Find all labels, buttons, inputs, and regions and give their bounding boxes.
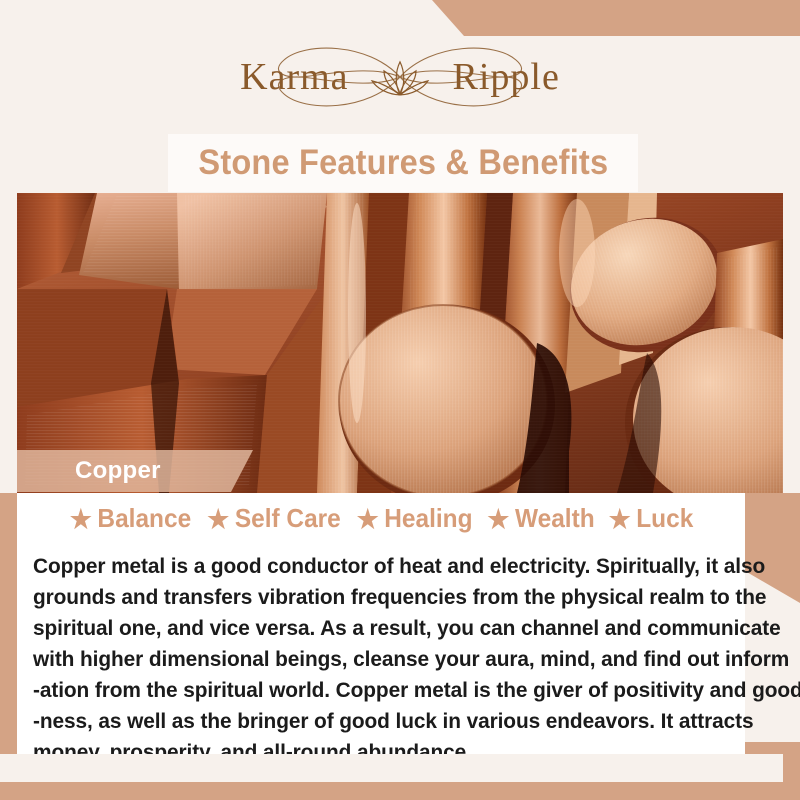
lotus-icon — [367, 56, 433, 102]
feature-label: Balance — [97, 503, 191, 534]
star-icon: ★ — [609, 506, 631, 532]
photo-caption-label: Copper — [75, 459, 161, 483]
bottom-band — [17, 754, 783, 782]
star-icon: ★ — [488, 506, 510, 532]
description-line: grounds and transfers vibration frequenc… — [33, 582, 712, 613]
description-line: spiritual one, and vice versa. As a resu… — [33, 613, 712, 644]
star-icon: ★ — [70, 506, 92, 532]
feature-item-luck: ★ Luck — [605, 503, 697, 534]
description-line: Copper metal is a good conductor of heat… — [33, 551, 712, 582]
feature-list: ★ Balance ★ Self Care ★ Healing ★ Wealth… — [17, 503, 745, 534]
feature-label: Healing — [384, 503, 472, 534]
feature-label: Wealth — [515, 503, 595, 534]
brand-name-right: Ripple — [453, 58, 560, 96]
description-line: with higher dimensional beings, cleanse … — [33, 644, 712, 675]
feature-item-healing: ★ Healing — [353, 503, 476, 534]
section-title-banner: Stone Features & Benefits — [168, 134, 638, 192]
feature-label: Luck — [636, 503, 693, 534]
photo-caption-banner: Copper — [17, 450, 253, 492]
hero-photo — [17, 193, 783, 493]
brand-name-left: Karma — [240, 58, 348, 96]
feature-item-self-care: ★ Self Care — [203, 503, 344, 534]
content-card: ★ Balance ★ Self Care ★ Healing ★ Wealth… — [17, 493, 745, 754]
description-text: Copper metal is a good conductor of heat… — [33, 551, 733, 768]
feature-item-balance: ★ Balance — [66, 503, 195, 534]
brand-logo: Karma Ripple — [0, 34, 800, 120]
page-title: Stone Features & Benefits — [198, 143, 608, 183]
infographic-page: Karma Ripple Stone Features & Benefits — [0, 0, 800, 800]
star-icon: ★ — [357, 506, 379, 532]
copper-bars-image — [17, 193, 783, 493]
description-line: -ation from the spiritual world. Copper … — [33, 675, 712, 706]
star-icon: ★ — [207, 506, 229, 532]
left-frame-rail — [0, 493, 17, 754]
description-line: -ness, as well as the bringer of good lu… — [33, 706, 712, 737]
feature-item-wealth: ★ Wealth — [484, 503, 599, 534]
feature-label: Self Care — [235, 503, 341, 534]
